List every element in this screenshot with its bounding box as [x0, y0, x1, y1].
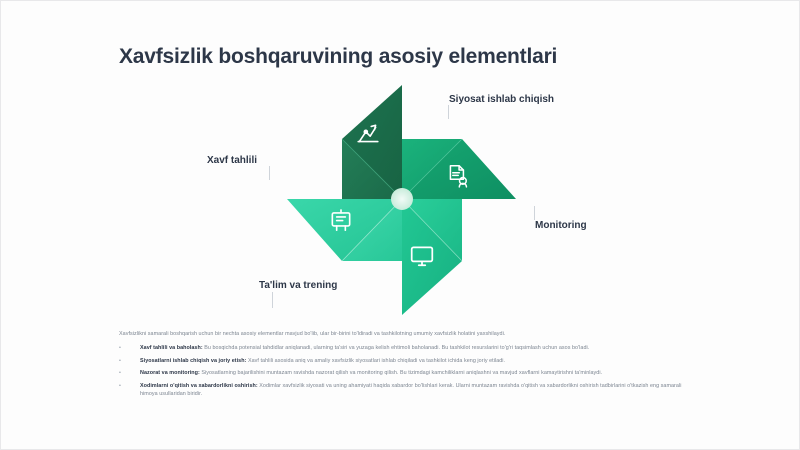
leader-line-risk: [269, 166, 270, 180]
label-risk-analysis: Xavf tahlili: [207, 155, 257, 166]
list-item: • Nazorat va monitoring: Siyosatlarning …: [119, 370, 689, 378]
label-monitoring: Monitoring: [535, 220, 587, 231]
bullet-lead: Nazorat va monitoring:: [140, 370, 200, 376]
bullet-detail: Siyosatlarning bajarilishini muntazam ra…: [201, 370, 602, 376]
blade-monitoring: [402, 199, 462, 315]
list-item: • Xodimlarni o'qitish va xabardorlikni o…: [119, 383, 689, 399]
label-policy-development: Siyosat ishlab chiqish: [449, 94, 554, 105]
bullet-marker: •: [119, 370, 129, 378]
leader-line-policy: [448, 105, 449, 119]
bullet-detail: Bu bosqichda potensial tahdidlar aniqlan…: [204, 345, 589, 351]
intro-paragraph: Xavfsizlikni samarali boshqarish uchun b…: [119, 331, 689, 339]
list-item: • Xavf tahlili va baholash: Bu bosqichda…: [119, 345, 689, 353]
bullet-detail: Xavf tahlili asosida aniq va amaliy xavf…: [248, 358, 505, 364]
blade-risk-analysis: [342, 85, 402, 199]
list-item: • Siyosatlarni ishlab chiqish va joriy e…: [119, 358, 689, 366]
blade-training: [287, 199, 402, 261]
bullet-lead: Xodimlarni o'qitish va xabardorlikni osh…: [140, 383, 258, 389]
page-title: Xavfsizlik boshqaruvining asosiy element…: [119, 45, 557, 69]
bullet-lead: Xavf tahlili va baholash:: [140, 345, 203, 351]
blade-policy-development: [402, 139, 516, 199]
bullet-marker: •: [119, 383, 129, 399]
bullet-body: Xodimlarni o'qitish va xabardorlikni osh…: [140, 383, 689, 399]
bullet-marker: •: [119, 358, 129, 366]
bullet-body: Nazorat va monitoring: Siyosatlarning ba…: [140, 370, 689, 378]
label-training: Ta'lim va trening: [259, 280, 337, 291]
slide-canvas: Xavfsizlik boshqaruvining asosiy element…: [0, 0, 800, 450]
bullet-marker: •: [119, 345, 129, 353]
bullet-body: Xavf tahlili va baholash: Bu bosqichda p…: [140, 345, 689, 353]
body-copy: Xavfsizlikni samarali boshqarish uchun b…: [119, 331, 689, 404]
leader-line-training: [272, 292, 273, 308]
bullet-lead: Siyosatlarni ishlab chiqish va joriy eti…: [140, 358, 246, 364]
bullet-body: Siyosatlarni ishlab chiqish va joriy eti…: [140, 358, 689, 366]
leader-line-monitoring: [534, 206, 535, 220]
pinwheel-hub: [391, 188, 413, 210]
